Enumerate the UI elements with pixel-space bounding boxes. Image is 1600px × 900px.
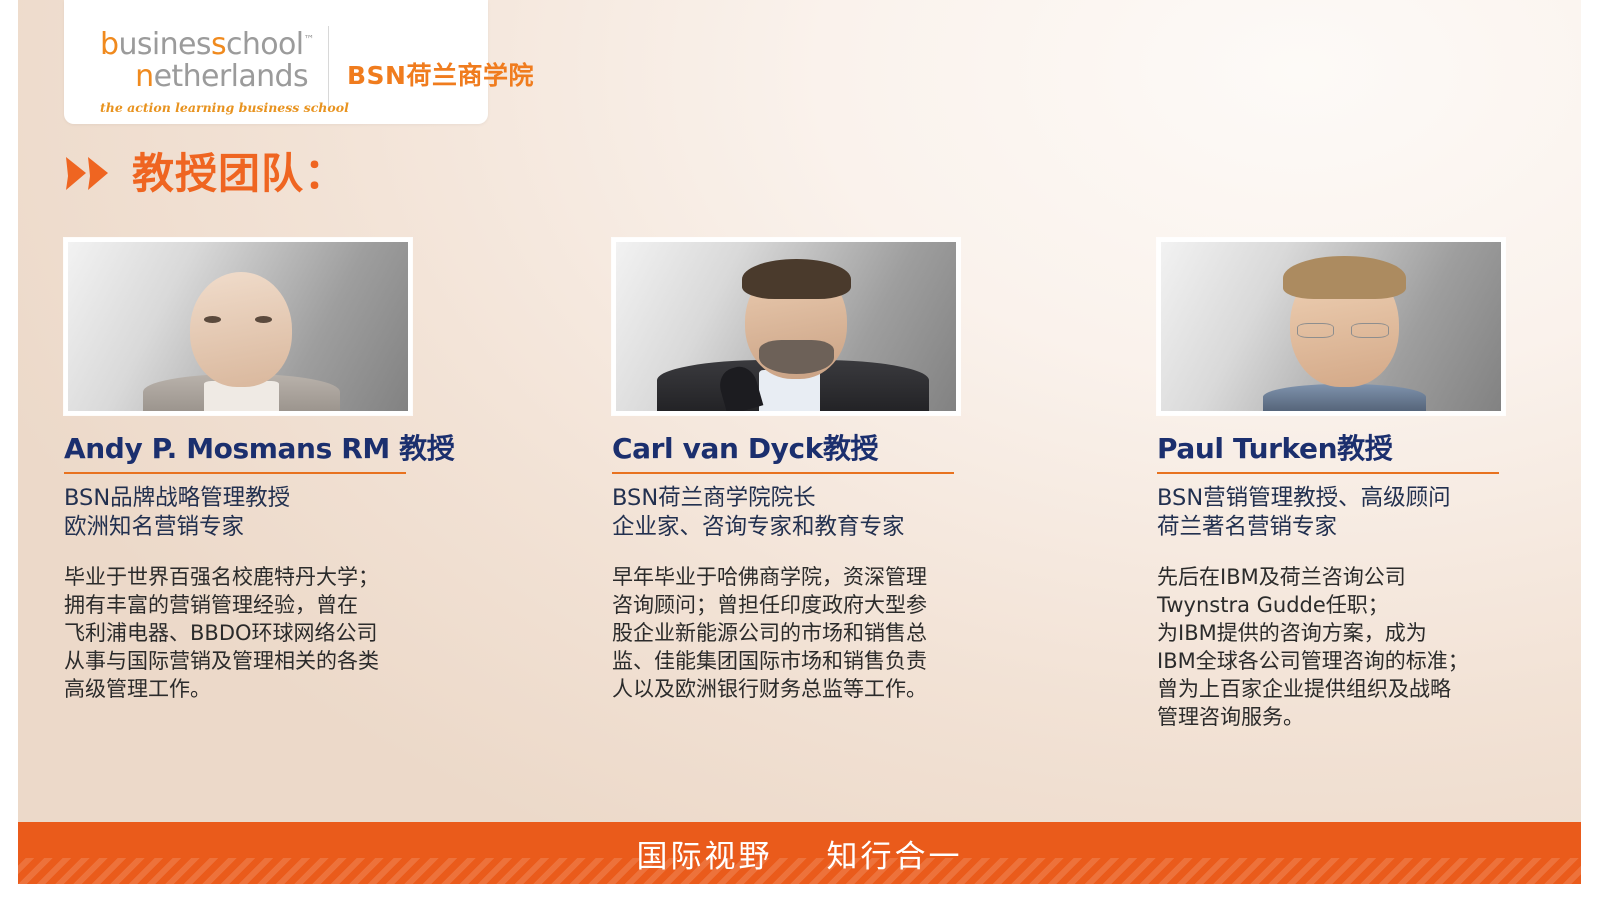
brand-logo-tagline: the action learning business school xyxy=(100,100,308,115)
professor-bio: 先后在IBM及荷兰咨询公司 Twynstra Gudde任职； 为IBM提供的咨… xyxy=(1157,564,1507,732)
brand-logo-chinese: BSN荷兰商学院 xyxy=(347,56,534,92)
brand-logo-line1-b: b xyxy=(100,27,118,62)
brand-logo-mark: businesschool™ netherlands the action le… xyxy=(100,24,308,115)
brand-logo-line1: businesschool™ xyxy=(100,24,308,61)
professor-bio-line: 拥有丰富的营销管理经验，曾在 xyxy=(64,592,414,620)
brand-logo-line1-chool: chool xyxy=(226,27,304,62)
professor-role: BSN营销管理教授、高级顾问 荷兰著名营销专家 xyxy=(1157,484,1507,542)
professor-name: Carl van Dyck教授 xyxy=(612,434,962,463)
professor-bio-line: 管理咨询服务。 xyxy=(1157,704,1507,732)
professor-bio: 早年毕业于哈佛商学院，资深管理 咨询顾问；曾担任印度政府大型参 股企业新能源公司… xyxy=(612,564,962,704)
professor-card: Andy P. Mosmans RM 教授 BSN品牌战略管理教授 欧洲知名营销… xyxy=(64,238,414,704)
brand-logo-line1-usines: usines xyxy=(118,27,210,62)
professor-role-line: BSN品牌战略管理教授 xyxy=(64,484,414,513)
trademark-icon: ™ xyxy=(304,33,314,46)
professor-bio-line: 飞利浦电器、BBDO环球网络公司 xyxy=(64,620,414,648)
slide-canvas: businesschool™ netherlands the action le… xyxy=(18,0,1581,884)
brand-logo-line2: netherlands xyxy=(100,61,308,93)
portrait-paul-turken xyxy=(1161,242,1501,411)
professor-bio-line: 股企业新能源公司的市场和销售总 xyxy=(612,620,962,648)
professor-card: Paul Turken教授 BSN营销管理教授、高级顾问 荷兰著名营销专家 先后… xyxy=(1157,238,1507,732)
professor-role: BSN品牌战略管理教授 欧洲知名营销专家 xyxy=(64,484,414,542)
brand-logo-line1-s: s xyxy=(211,27,226,62)
professor-bio-line: 为IBM提供的咨询方案，成为 xyxy=(1157,620,1507,648)
professor-name-rule xyxy=(64,472,406,474)
professor-name-rule xyxy=(1157,472,1499,474)
professor-role-line: 荷兰著名营销专家 xyxy=(1157,513,1507,542)
professor-role-line: 欧洲知名营销专家 xyxy=(64,513,414,542)
professor-photo-frame xyxy=(1157,238,1505,415)
professor-name: Paul Turken教授 xyxy=(1157,434,1507,463)
footer-slogan-left: 国际视野 xyxy=(637,831,773,876)
brand-logo-line2-n: n xyxy=(135,59,153,94)
brand-logo-line2-etherlands: etherlands xyxy=(154,59,308,94)
professor-photo-frame xyxy=(64,238,412,415)
professor-role-line: BSN荷兰商学院院长 xyxy=(612,484,962,513)
footer-bar: 国际视野 知行合一 xyxy=(18,822,1581,884)
logo-divider xyxy=(328,26,329,108)
section-title: 教授团队： xyxy=(64,153,347,195)
footer-slogan: 国际视野 知行合一 xyxy=(18,822,1581,884)
professor-name-rule xyxy=(612,472,954,474)
professor-role-line: BSN营销管理教授、高级顾问 xyxy=(1157,484,1507,513)
portrait-andy-mosmans xyxy=(68,242,408,411)
professor-bio-line: IBM全球各公司管理咨询的标准； xyxy=(1157,648,1507,676)
footer-slogan-right: 知行合一 xyxy=(827,831,963,876)
professor-bio-line: 监、佳能集团国际市场和销售负责 xyxy=(612,648,962,676)
professor-bio-line: 高级管理工作。 xyxy=(64,676,414,704)
brand-logo: businesschool™ netherlands the action le… xyxy=(100,24,534,115)
professor-bio-line: 人以及欧洲银行财务总监等工作。 xyxy=(612,676,962,704)
double-chevron-right-icon xyxy=(64,154,116,194)
brand-logo-box: businesschool™ netherlands the action le… xyxy=(64,0,488,124)
professor-role: BSN荷兰商学院院长 企业家、咨询专家和教育专家 xyxy=(612,484,962,542)
professor-bio-line: 先后在IBM及荷兰咨询公司 xyxy=(1157,564,1507,592)
professor-bio-line: 毕业于世界百强名校鹿特丹大学； xyxy=(64,564,414,592)
professor-bio-line: 早年毕业于哈佛商学院，资深管理 xyxy=(612,564,962,592)
section-title-text: 教授团队： xyxy=(132,153,347,195)
portrait-carl-van-dyck xyxy=(616,242,956,411)
professor-name: Andy P. Mosmans RM 教授 xyxy=(64,434,414,463)
professor-bio-line: 曾为上百家企业提供组织及战略 xyxy=(1157,676,1507,704)
professor-bio-line: 咨询顾问；曾担任印度政府大型参 xyxy=(612,592,962,620)
professor-bio: 毕业于世界百强名校鹿特丹大学； 拥有丰富的营销管理经验，曾在 飞利浦电器、BBD… xyxy=(64,564,414,704)
professor-card: Carl van Dyck教授 BSN荷兰商学院院长 企业家、咨询专家和教育专家… xyxy=(612,238,962,704)
professor-bio-line: 从事与国际营销及管理相关的各类 xyxy=(64,648,414,676)
professor-photo-frame xyxy=(612,238,960,415)
professor-role-line: 企业家、咨询专家和教育专家 xyxy=(612,513,962,542)
professor-bio-line: Twynstra Gudde任职； xyxy=(1157,592,1507,620)
